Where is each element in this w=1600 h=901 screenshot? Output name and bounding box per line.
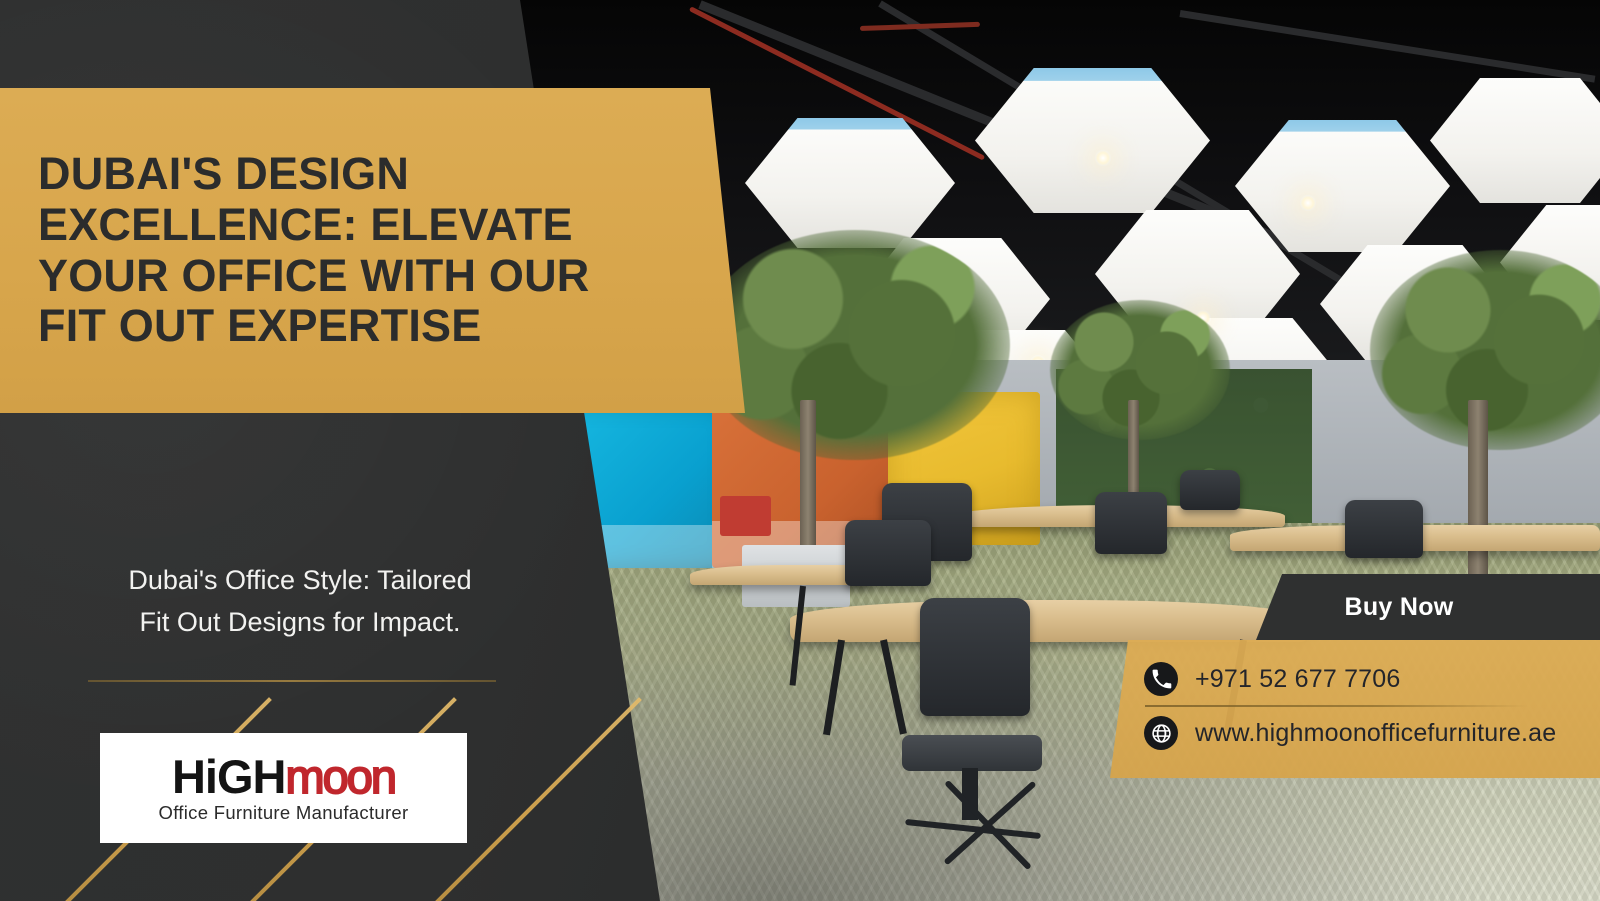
tree-trunk [1468,400,1488,600]
marketing-banner: DUBAI'S DESIGN EXCELLENCE: ELEVATE YOUR … [0,0,1600,901]
logo-tagline: Office Furniture Manufacturer [159,802,409,824]
logo-wordmark: HiGHmoon [172,753,395,800]
foreground-chair-back [920,598,1030,716]
office-desk [690,565,870,585]
red-cushion [720,496,771,537]
olive-tree-canopy [700,230,1010,460]
contact-divider [1145,705,1528,707]
phone-icon [1144,662,1178,696]
contact-panel: +971 52 677 7706 www.highmoonofficefurni… [1100,640,1600,778]
subtitle-line-2: Fit Out Designs for Impact. [40,602,560,644]
ceiling-downlight [1300,195,1316,211]
website-row[interactable]: www.highmoonofficefurniture.ae [1144,707,1600,759]
office-desk [790,600,1310,642]
subtitle: Dubai's Office Style: Tailored Fit Out D… [40,560,560,644]
website-url: www.highmoonofficefurniture.ae [1195,719,1556,748]
logo-text-moon: moon [285,750,395,803]
page-title: DUBAI'S DESIGN EXCELLENCE: ELEVATE YOUR … [0,149,690,352]
ceiling-downlight [1095,150,1111,166]
office-chair-back [1180,470,1240,510]
buy-now-label: Buy Now [1344,593,1453,622]
subtitle-line-1: Dubai's Office Style: Tailored [40,560,560,602]
globe-icon [1144,716,1178,750]
phone-row[interactable]: +971 52 677 7706 [1144,653,1600,705]
office-chair-back [845,520,931,586]
company-logo: HiGHmoon Office Furniture Manufacturer [100,733,467,843]
phone-number: +971 52 677 7706 [1195,665,1400,694]
subtitle-divider [88,680,496,682]
foreground-chair-seat [902,735,1042,771]
headline-gold-box: DUBAI'S DESIGN EXCELLENCE: ELEVATE YOUR … [0,88,760,413]
olive-tree-canopy [1050,300,1230,440]
office-chair-back [1095,492,1167,554]
buy-now-button[interactable]: Buy Now [1256,574,1600,640]
office-chair-back [1345,500,1423,558]
logo-text-high: HiGH [172,750,286,803]
